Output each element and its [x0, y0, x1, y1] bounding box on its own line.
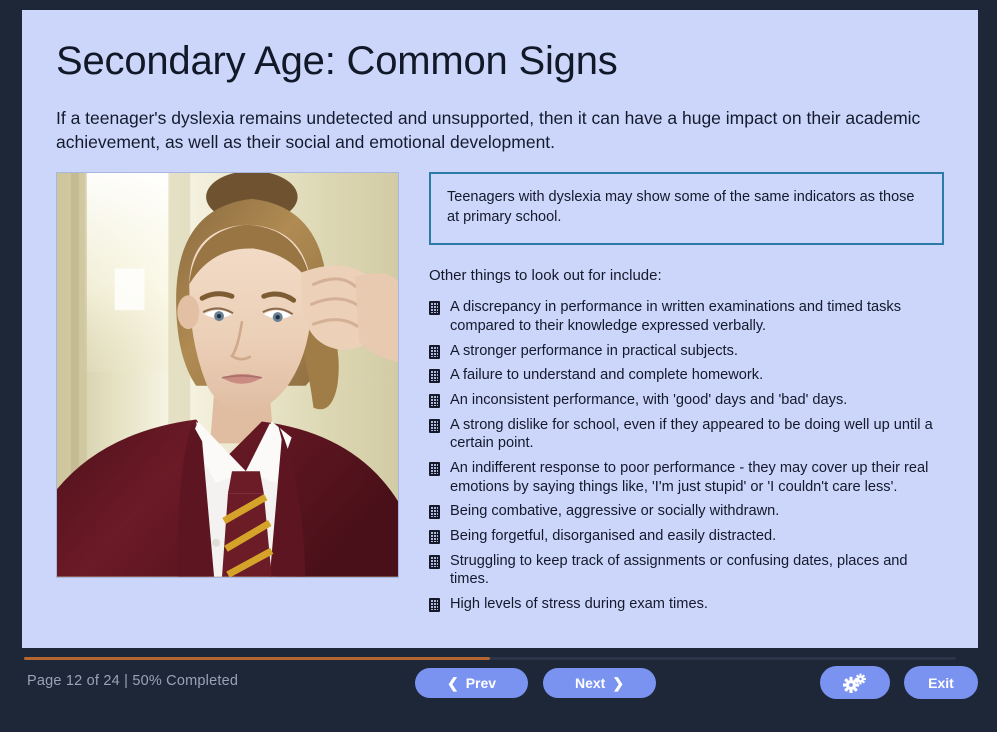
slide-body: Teenagers with dyslexia may show some of… [56, 172, 944, 620]
list-item-text: A discrepancy in performance in written … [450, 298, 944, 335]
slide-subtitle: If a teenager's dyslexia remains undetec… [56, 106, 936, 154]
list-item: A failure to understand and complete hom… [429, 366, 944, 385]
slide-panel: Secondary Age: Common Signs If a teenage… [22, 10, 978, 648]
list-item: Being forgetful, disorganised and easily… [429, 527, 944, 546]
list-item-text: A failure to understand and complete hom… [450, 366, 763, 385]
building-bullet-icon [429, 505, 440, 519]
list-item-text: An indifferent response to poor performa… [450, 459, 944, 496]
list-item: A strong dislike for school, even if the… [429, 416, 944, 453]
callout-text: Teenagers with dyslexia may show some of… [447, 188, 926, 227]
exit-button[interactable]: Exit [904, 666, 978, 699]
list-item-text: Being combative, aggressive or socially … [450, 502, 779, 521]
building-bullet-icon [429, 419, 440, 433]
student-photo [56, 172, 399, 578]
list-item: An indifferent response to poor performa… [429, 459, 944, 496]
next-button[interactable]: Next ❯ [543, 668, 656, 698]
callout-box: Teenagers with dyslexia may show some of… [429, 172, 944, 245]
nav-buttons: ❮ Prev Next ❯ [415, 668, 656, 698]
building-bullet-icon [429, 301, 440, 315]
settings-button[interactable] [820, 666, 890, 699]
building-bullet-icon [429, 462, 440, 476]
list-item-text: A strong dislike for school, even if the… [450, 416, 944, 453]
chevron-left-icon: ❮ [447, 676, 459, 690]
chevron-right-icon: ❯ [612, 676, 624, 690]
list-item: A discrepancy in performance in written … [429, 298, 944, 335]
building-bullet-icon [429, 369, 440, 383]
footer-actions: Exit [820, 666, 978, 699]
building-bullet-icon [429, 345, 440, 359]
list-item: A stronger performance in practical subj… [429, 342, 944, 361]
progress-bar-fill [24, 657, 490, 660]
building-bullet-icon [429, 394, 440, 408]
list-item-text: Being forgetful, disorganised and easily… [450, 527, 776, 546]
slide-content: Secondary Age: Common Signs If a teenage… [56, 38, 944, 648]
progress-bar[interactable] [24, 657, 956, 660]
building-bullet-icon [429, 555, 440, 569]
list-item-text: An inconsistent performance, with 'good'… [450, 391, 847, 410]
exit-button-label: Exit [928, 675, 954, 691]
list-lead-in: Other things to look out for include: [429, 267, 944, 284]
prev-button[interactable]: ❮ Prev [415, 668, 528, 698]
page-status-text: Page 12 of 24 | 50% Completed [27, 673, 238, 689]
building-bullet-icon [429, 530, 440, 544]
gears-icon [843, 673, 867, 693]
text-column: Teenagers with dyslexia may show some of… [429, 172, 944, 620]
list-item: High levels of stress during exam times. [429, 595, 944, 614]
page-title: Secondary Age: Common Signs [56, 38, 944, 84]
list-item: Being combative, aggressive or socially … [429, 502, 944, 521]
list-item: An inconsistent performance, with 'good'… [429, 391, 944, 410]
student-photo-illustration [57, 173, 398, 577]
signs-list: A discrepancy in performance in written … [429, 298, 944, 613]
photo-column [56, 172, 399, 578]
list-item-text: High levels of stress during exam times. [450, 595, 708, 614]
list-item: Struggling to keep track of assignments … [429, 552, 944, 589]
list-item-text: A stronger performance in practical subj… [450, 342, 738, 361]
prev-button-label: Prev [466, 675, 496, 691]
next-button-label: Next [575, 675, 605, 691]
list-item-text: Struggling to keep track of assignments … [450, 552, 944, 589]
building-bullet-icon [429, 598, 440, 612]
